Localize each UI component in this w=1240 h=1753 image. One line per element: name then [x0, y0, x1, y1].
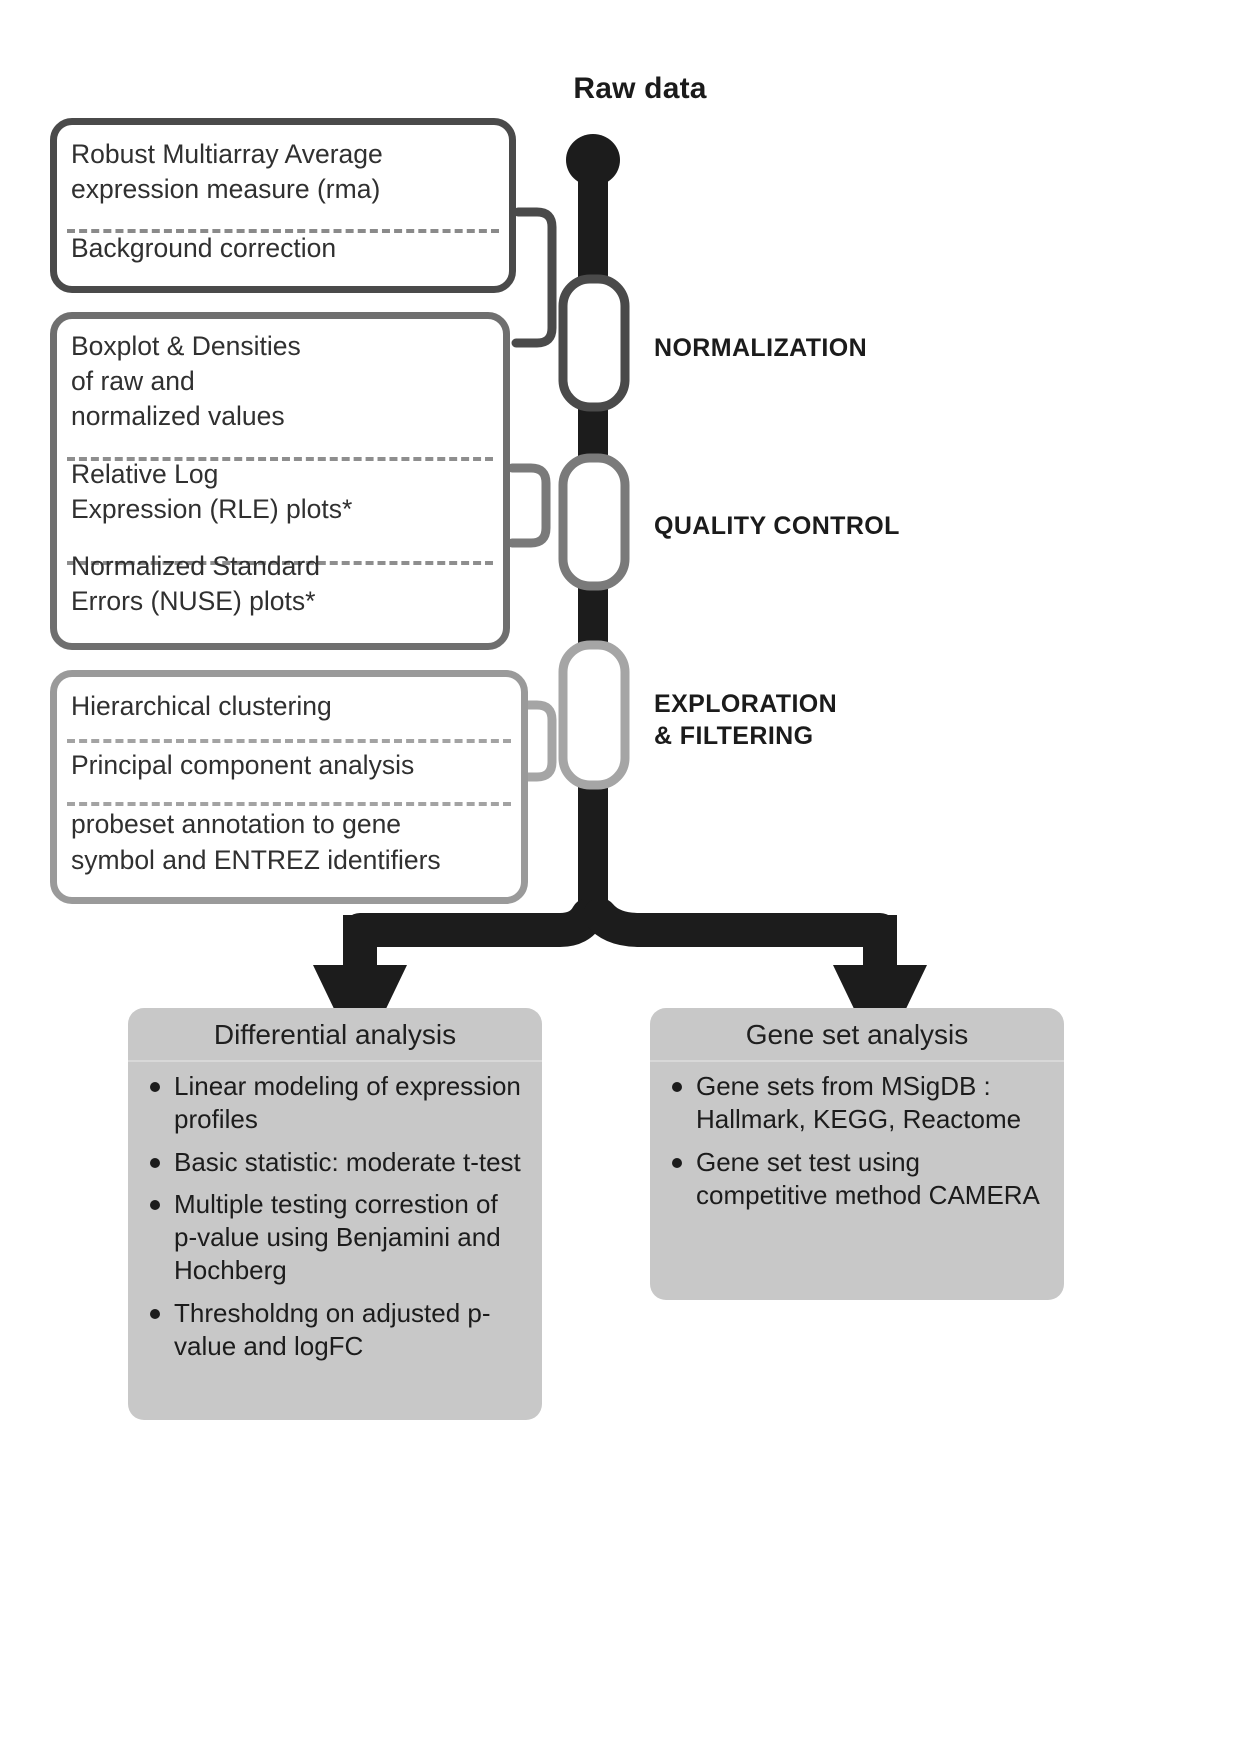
list-item: Thresholdng on adjusted p-value and logF… [144, 1297, 526, 1364]
list-item: Linear modeling of expression profiles [144, 1070, 526, 1137]
list-item: Basic statistic: moderate t-test [144, 1146, 526, 1179]
step-boxplot-densities: Boxplot & Densities of raw and normalize… [57, 319, 503, 439]
stage-label-exploration-line2: & FILTERING [654, 720, 837, 752]
bullet-list-gene-set: Gene sets from MSigDB : Hallmark, KEGG, … [666, 1070, 1048, 1212]
list-item: Gene set test using competitive method C… [666, 1146, 1048, 1213]
stage-node-normalization[interactable] [563, 279, 625, 407]
step-nuse-plots: Normalized Standard Errors (NUSE) plots* [57, 531, 503, 623]
step-probeset-annotation: probeset annotation to gene symbol and E… [57, 787, 521, 881]
stage-label-quality-control: QUALITY CONTROL [654, 510, 900, 542]
output-panel-differential-analysis[interactable]: Differential analysis Linear modeling of… [128, 1008, 542, 1420]
step-hierarchical-clustering: Hierarchical clustering [57, 677, 521, 728]
stage-label-normalization: NORMALIZATION [654, 332, 867, 364]
stage-label-exploration: EXPLORATION & FILTERING [654, 688, 837, 752]
step-rma: Robust Multiarray Average expression mea… [57, 125, 509, 211]
list-item: Gene sets from MSigDB : Hallmark, KEGG, … [666, 1070, 1048, 1137]
pin-dot-icon [566, 134, 620, 186]
connector-normalization [516, 212, 552, 343]
step-rle-plots: Relative Log Expression (RLE) plots* [57, 439, 503, 531]
stage-box-normalization[interactable]: Robust Multiarray Average expression mea… [50, 118, 516, 293]
connector-quality-control [512, 468, 546, 543]
bullet-list-differential: Linear modeling of expression profiles B… [144, 1070, 526, 1363]
list-item: Multiple testing correstion of p-value u… [144, 1188, 526, 1288]
stage-box-exploration[interactable]: Hierarchical clustering Principal compon… [50, 670, 528, 904]
stage-node-exploration[interactable] [563, 645, 625, 785]
step-background-correction: Background correction [57, 211, 509, 270]
stage-box-quality-control[interactable]: Boxplot & Densities of raw and normalize… [50, 312, 510, 650]
panel-title-differential: Differential analysis [128, 1008, 542, 1062]
workflow-diagram: Raw data [0, 0, 1240, 1753]
panel-title-gene-set: Gene set analysis [650, 1008, 1064, 1062]
stage-label-exploration-line1: EXPLORATION [654, 688, 837, 720]
output-panel-gene-set-analysis[interactable]: Gene set analysis Gene sets from MSigDB … [650, 1008, 1064, 1300]
step-pca: Principal component analysis [57, 728, 521, 787]
stage-node-quality-control[interactable] [563, 458, 625, 586]
